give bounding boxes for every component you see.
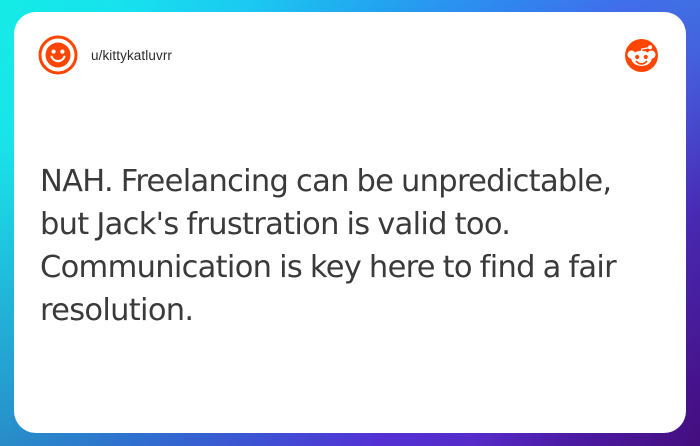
author-row[interactable]: u/kittykatluvrr — [38, 35, 625, 75]
comment-text: NAH. Freelancing can be unpredictable, b… — [40, 160, 660, 332]
reddit-comment-card: u/kittykatluvrr NAH. Free — [14, 12, 686, 433]
smiley-face-avatar-icon — [38, 35, 78, 75]
card-body: NAH. Freelancing can be unpredictable, b… — [40, 160, 660, 332]
author-username: u/kittykatluvrr — [91, 48, 172, 63]
card-header: u/kittykatluvrr — [14, 12, 686, 98]
reddit-snoo-icon[interactable] — [625, 39, 658, 72]
